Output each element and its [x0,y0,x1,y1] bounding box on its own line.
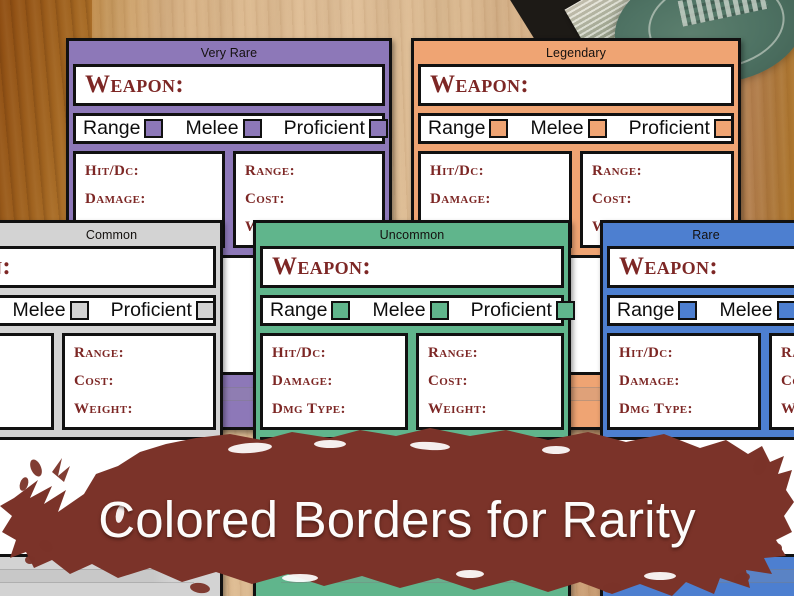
weapon-label: Weapon: [619,253,718,281]
hit-dc-label: Hit/Dc: [272,345,405,362]
card-title-uncommon: Uncommon [260,227,564,244]
range-toggle-label: Range [617,301,674,321]
range-label: Range: [245,163,382,180]
damage-label: Damage: [430,191,569,208]
proficient-checkbox[interactable] [714,119,733,138]
melee-checkbox[interactable] [430,301,449,320]
damage-label: Damage: [85,191,222,208]
stat-row: Hit/Dc: Damage: Dmg Type: Range: Cost: W… [0,333,216,430]
weapon-name-field[interactable]: Weapon: [607,246,794,288]
weapon-type-toggles: Range Melee Proficient [0,295,216,326]
screenshot-stage: Very Rare Weapon: Range Melee Proficient… [0,0,794,596]
stat-row: Hit/Dc: Damage: Dmg Type: Range: Cost: W… [607,333,794,430]
notes-panel[interactable]: Notes: [260,437,564,557]
cost-label: Cost: [74,373,213,390]
range-label: Range: [428,345,561,362]
weapon-type-toggles: Range Melee Proficient [607,295,794,326]
card-rare[interactable]: Rare Weapon: Range Melee Proficient Hit/… [600,220,794,596]
card-uncommon[interactable]: Uncommon Weapon: Range Melee Proficient … [253,220,571,596]
melee-checkbox[interactable] [777,301,794,320]
melee-checkbox[interactable] [588,119,607,138]
proficient-toggle-label: Proficient [629,119,710,139]
notes-label: Notes: [619,448,667,464]
proficient-checkbox[interactable] [196,301,215,320]
weapon-name-field[interactable]: Weapon: [260,246,564,288]
hit-dc-label: Hit/Dc: [430,163,569,180]
proficient-checkbox[interactable] [556,301,575,320]
weapon-name-field[interactable]: Weapon: [418,64,734,106]
proficient-toggle-label: Proficient [284,119,365,139]
card-title-legendary: Legendary [418,45,734,62]
melee-checkbox[interactable] [70,301,89,320]
range-toggle-label: Range [428,119,485,139]
weapon-type-toggles: Range Melee Proficient [418,113,734,144]
weight-label: Weight: [781,401,794,418]
item-stats-panel[interactable]: Range: Cost: Weight: [416,333,564,430]
dmg-type-label: Dmg Type: [272,401,405,418]
card-title-rare: Rare [607,227,794,244]
cost-label: Cost: [781,373,794,390]
melee-checkbox[interactable] [243,119,262,138]
melee-toggle-label: Melee [185,119,238,139]
weight-label: Weight: [428,401,561,418]
hit-dc-label: Hit/Dc: [619,345,758,362]
melee-toggle-label: Melee [719,301,772,321]
range-checkbox[interactable] [489,119,508,138]
range-checkbox[interactable] [331,301,350,320]
item-stats-panel[interactable]: Range: Cost: Weight: [769,333,794,430]
damage-label: Damage: [0,373,51,390]
notes-panel[interactable]: Notes: [0,437,216,557]
range-checkbox[interactable] [678,301,697,320]
combat-stats-panel[interactable]: Hit/Dc: Damage: Dmg Type: [260,333,408,430]
weapon-label: Weapon: [0,253,11,281]
stat-row: Hit/Dc: Damage: Dmg Type: Range: Cost: W… [260,333,564,430]
damage-label: Damage: [619,373,758,390]
range-label: Range: [781,345,794,362]
range-toggle-label: Range [83,119,140,139]
card-title-very-rare: Very Rare [73,45,385,62]
damage-label: Damage: [272,373,405,390]
range-label: Range: [592,163,731,180]
combat-stats-panel[interactable]: Hit/Dc: Damage: Dmg Type: [0,333,54,430]
card-common[interactable]: Common Weapon: Range Melee Proficient Hi… [0,220,223,596]
notes-panel[interactable]: Notes: [607,437,794,557]
weapon-type-toggles: Range Melee Proficient [73,113,385,144]
dmg-type-label: Dmg Type: [0,401,51,418]
combat-stats-panel[interactable]: Hit/Dc: Damage: Dmg Type: [607,333,761,430]
card-title-common: Common [0,227,216,244]
melee-toggle-label: Melee [530,119,583,139]
notes-label: Notes: [272,448,320,464]
weapon-name-field[interactable]: Weapon: [0,246,216,288]
weight-label: Weight: [74,401,213,418]
range-checkbox[interactable] [144,119,163,138]
melee-toggle-label: Melee [372,301,425,321]
range-toggle-label: Range [270,301,327,321]
weapon-type-toggles: Range Melee Proficient [260,295,564,326]
cost-label: Cost: [245,191,382,208]
dmg-type-label: Dmg Type: [619,401,758,418]
weapon-label: Weapon: [85,71,184,99]
cost-label: Cost: [428,373,561,390]
range-label: Range: [74,345,213,362]
weapon-label: Weapon: [430,71,529,99]
hit-dc-label: Hit/Dc: [85,163,222,180]
proficient-toggle-label: Proficient [111,301,192,321]
weapon-label: Weapon: [272,253,371,281]
proficient-toggle-label: Proficient [471,301,552,321]
cost-label: Cost: [592,191,731,208]
melee-toggle-label: Melee [12,301,65,321]
hit-dc-label: Hit/Dc: [0,345,51,362]
item-stats-panel[interactable]: Range: Cost: Weight: [62,333,216,430]
weapon-name-field[interactable]: Weapon: [73,64,385,106]
proficient-checkbox[interactable] [369,119,388,138]
